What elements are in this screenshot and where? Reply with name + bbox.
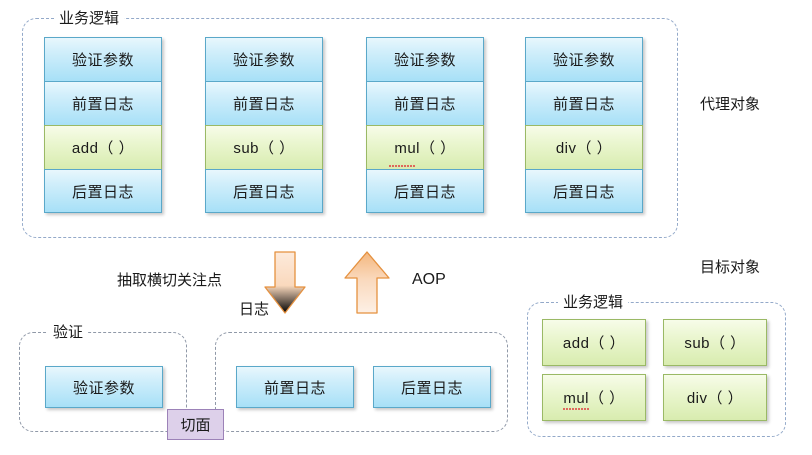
proxy-cell-validate: 验证参数 (205, 37, 323, 81)
aspect-box-before-log: 前置日志 (236, 366, 354, 408)
proxy-cell-after-log: 后置日志 (205, 169, 323, 213)
proxy-group-caption: 业务逻辑 (54, 10, 124, 27)
proxy-object-side-label: 代理对象 (700, 96, 760, 113)
proxy-cell-before-log: 前置日志 (205, 81, 323, 125)
proxy-column-mul: 验证参数 前置日志 mul（ ） 后置日志 (366, 37, 484, 213)
proxy-cell-after-log: 后置日志 (525, 169, 643, 213)
proxy-cell-before-log: 前置日志 (366, 81, 484, 125)
proxy-cell-method: sub（ ） (205, 125, 323, 169)
aspect-group-log-caption: 日志 (234, 301, 274, 318)
aspect-box-validate-params: 验证参数 (45, 366, 163, 408)
proxy-cell-method: mul（ ） (366, 125, 484, 169)
aspect-group-validate-caption: 验证 (48, 324, 88, 341)
target-box-add: add（ ） (542, 319, 646, 366)
proxy-cell-validate: 验证参数 (44, 37, 162, 81)
aop-weaving-arrow (344, 251, 392, 315)
proxy-column-sub: 验证参数 前置日志 sub（ ） 后置日志 (205, 37, 323, 213)
target-group-caption: 业务逻辑 (558, 294, 628, 311)
proxy-cell-method: div（ ） (525, 125, 643, 169)
aspect-box-after-log: 后置日志 (373, 366, 491, 408)
target-box-sub: sub（ ） (663, 319, 767, 366)
target-object-side-label: 目标对象 (700, 259, 760, 276)
proxy-cell-method: add（ ） (44, 125, 162, 169)
proxy-cell-before-log: 前置日志 (525, 81, 643, 125)
proxy-cell-validate: 验证参数 (525, 37, 643, 81)
proxy-cell-after-log: 后置日志 (44, 169, 162, 213)
target-box-mul: mul（ ） (542, 374, 646, 421)
proxy-cell-after-log: 后置日志 (366, 169, 484, 213)
extract-concerns-label: 抽取横切关注点 (117, 272, 222, 289)
aop-label: AOP (412, 271, 446, 288)
proxy-cell-before-log: 前置日志 (44, 81, 162, 125)
aspect-tag: 切面 (167, 409, 224, 440)
proxy-column-div: 验证参数 前置日志 div（ ） 后置日志 (525, 37, 643, 213)
proxy-cell-validate: 验证参数 (366, 37, 484, 81)
target-box-div: div（ ） (663, 374, 767, 421)
proxy-column-add: 验证参数 前置日志 add（ ） 后置日志 (44, 37, 162, 213)
